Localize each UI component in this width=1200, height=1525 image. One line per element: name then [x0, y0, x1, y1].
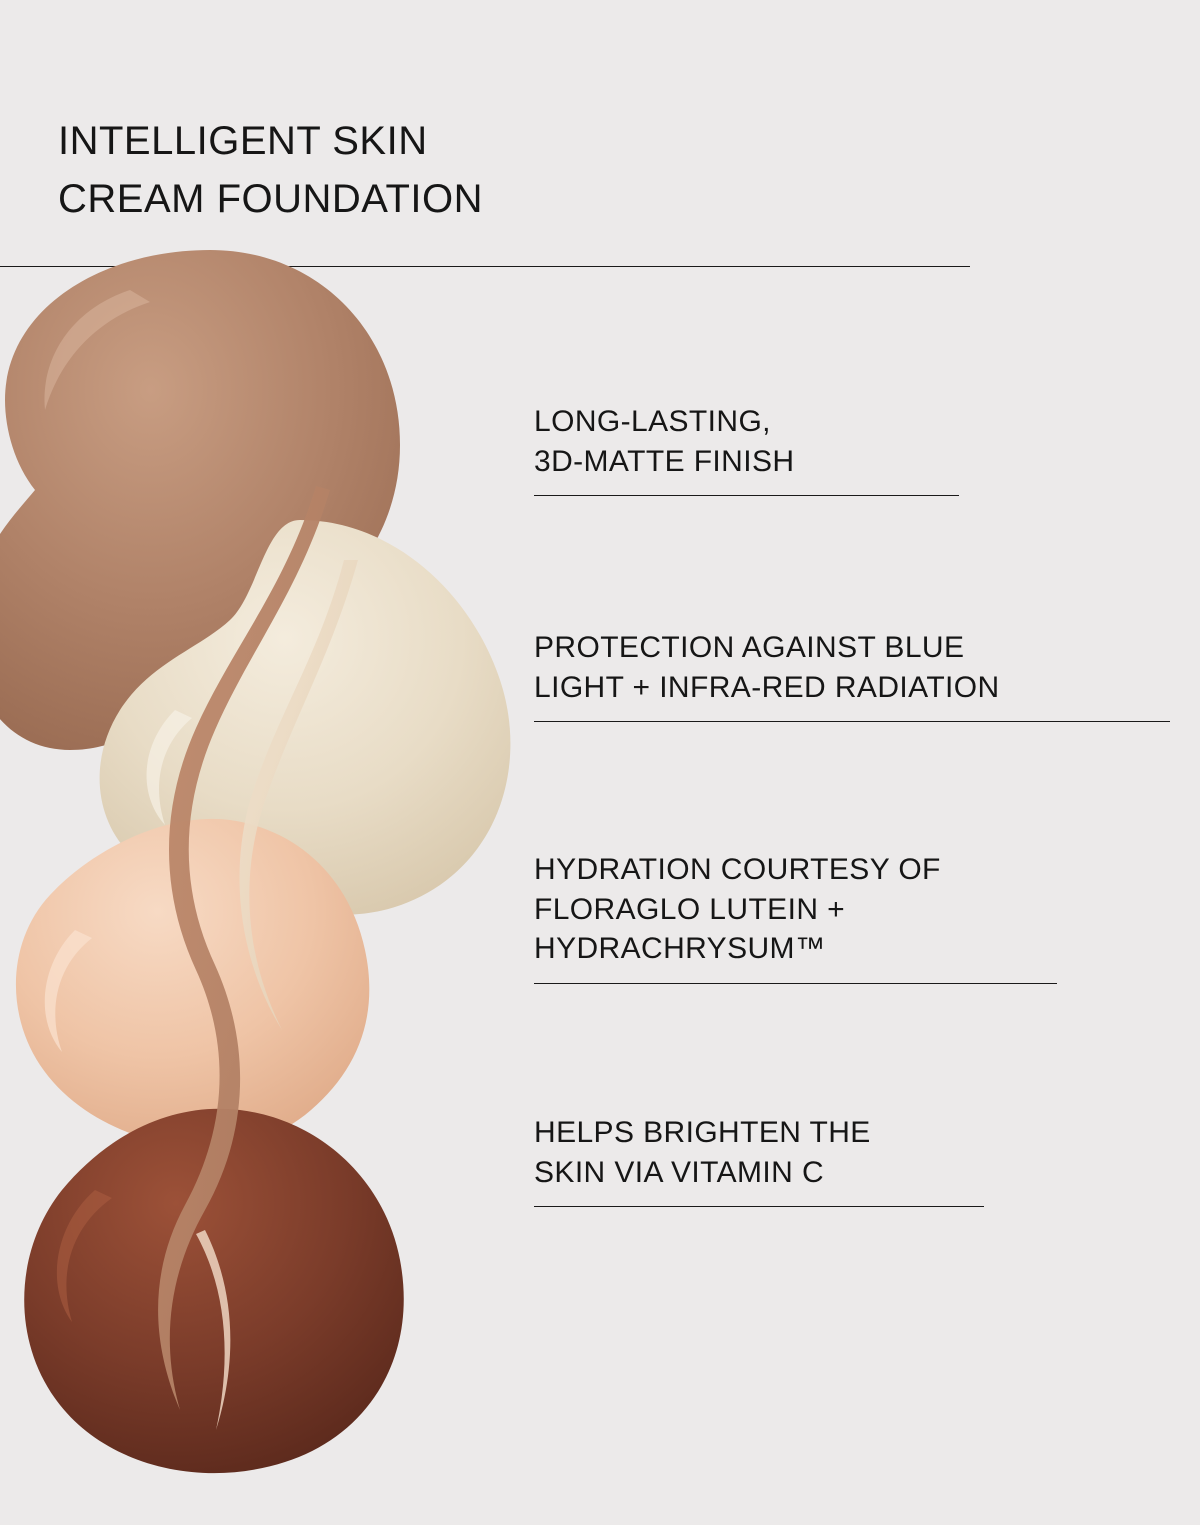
feature-callout-0: LONG-LASTING, 3D-MATTE FINISH: [534, 402, 959, 496]
feature-divider: [534, 495, 959, 496]
feature-callout-3: HELPS BRIGHTEN THE SKIN VIA VITAMIN C: [534, 1113, 984, 1207]
feature-divider: [534, 983, 1057, 984]
feature-callout-1: PROTECTION AGAINST BLUE LIGHT + INFRA-RE…: [534, 628, 1170, 722]
swatch-blob-fair-peach: [16, 819, 369, 1149]
feature-text: LONG-LASTING, 3D-MATTE FINISH: [534, 402, 959, 481]
feature-text: HELPS BRIGHTEN THE SKIN VIA VITAMIN C: [534, 1113, 984, 1192]
feature-text: HYDRATION COURTESY OF FLORAGLO LUTEIN + …: [534, 850, 1057, 969]
feature-callout-2: HYDRATION COURTESY OF FLORAGLO LUTEIN + …: [534, 850, 1057, 984]
feature-divider: [534, 1206, 984, 1207]
feature-text: PROTECTION AGAINST BLUE LIGHT + INFRA-RE…: [534, 628, 1170, 707]
foundation-swatch-artwork: [0, 230, 560, 1490]
page-title: INTELLIGENT SKIN CREAM FOUNDATION: [58, 112, 483, 228]
product-feature-poster: INTELLIGENT SKIN CREAM FOUNDATION: [0, 0, 1200, 1525]
feature-divider: [534, 721, 1170, 722]
